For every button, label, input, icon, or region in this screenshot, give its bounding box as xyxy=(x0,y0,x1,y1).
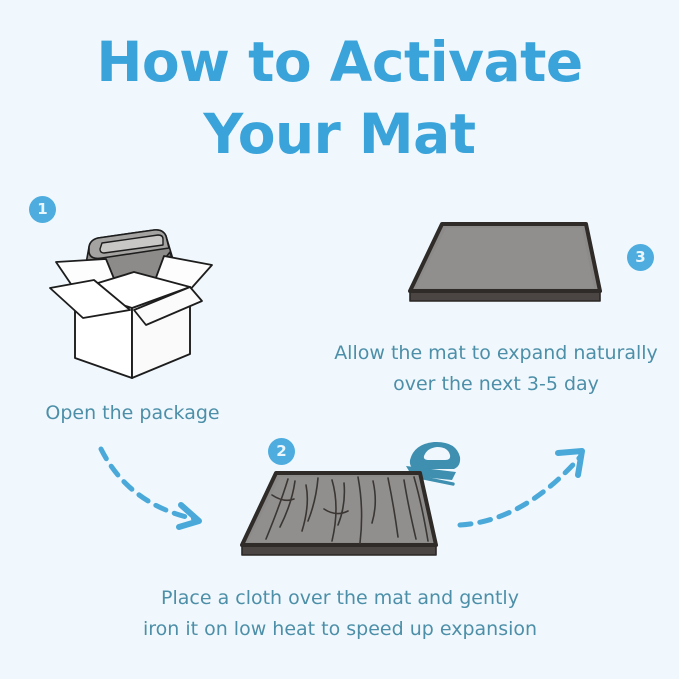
step-2-caption-line-2: iron it on low heat to speed up expansio… xyxy=(110,614,570,645)
flat-mat-illustration xyxy=(400,215,615,310)
step-badge-3: 3 xyxy=(627,244,654,271)
step-3-caption-line-1: Allow the mat to expand naturally xyxy=(315,338,677,369)
step-3-caption-line-2: over the next 3-5 day xyxy=(315,369,677,400)
page-title: How to Activate Your Mat xyxy=(0,26,679,170)
step-3-caption: Allow the mat to expand naturally over t… xyxy=(315,338,677,400)
wrinkled-mat-illustration xyxy=(232,465,450,565)
dashed-arrow-up-right-icon xyxy=(452,443,597,533)
step-1-caption: Open the package xyxy=(0,398,265,429)
title-line-2: Your Mat xyxy=(0,98,679,170)
dashed-arrow-down-right-icon xyxy=(95,443,225,533)
open-box-illustration xyxy=(42,218,222,383)
infographic-canvas: How to Activate Your Mat 1 Open the pack… xyxy=(0,0,679,679)
step-badge-2: 2 xyxy=(268,438,295,465)
step-2-caption-line-1: Place a cloth over the mat and gently xyxy=(110,583,570,614)
title-line-1: How to Activate xyxy=(0,26,679,98)
step-2-caption: Place a cloth over the mat and gently ir… xyxy=(110,583,570,645)
